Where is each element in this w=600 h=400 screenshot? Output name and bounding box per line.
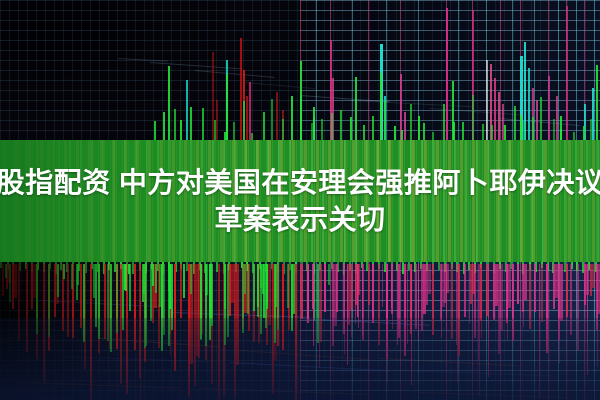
headline-line-2: 草案表示关切 [214, 203, 385, 236]
chart-volume-bar [368, 264, 370, 305]
chart-volume-bar [190, 264, 192, 294]
chart-volume-bar [357, 264, 358, 317]
chart-volume-bar [566, 264, 568, 317]
chart-volume-bar [355, 264, 356, 324]
chart-volume-bar [382, 264, 383, 307]
chart-volume-bar [372, 264, 374, 323]
chart-volume-bar [391, 264, 392, 308]
chart-volume-bar [300, 264, 301, 309]
chart-volume-bar [266, 264, 268, 309]
news-banner-image: 股指配资 中方对美国在安理会强推阿卜耶伊决议 草案表示关切 [0, 0, 600, 400]
chart-bottom-wash [0, 318, 600, 400]
chart-volume-bar [307, 264, 309, 323]
chart-volume-bar [524, 264, 527, 300]
chart-volume-bar [124, 264, 126, 290]
chart-volume-bar [262, 264, 264, 294]
chart-volume-bar [301, 264, 303, 319]
chart-volume-bar [210, 264, 212, 323]
chart-volume-bar [541, 264, 543, 322]
chart-volume-bar [150, 264, 152, 321]
chart-volume-bar [253, 264, 255, 311]
chart-volume-bar [152, 264, 154, 286]
chart-volume-bar [268, 264, 271, 325]
chart-volume-bar [592, 264, 595, 288]
chart-volume-bar [155, 264, 157, 293]
chart-volume-bar [469, 264, 470, 323]
chart-volume-bar [169, 264, 171, 309]
chart-volume-bar [180, 264, 182, 318]
chart-volume-bar [534, 264, 536, 312]
chart-volume-bar [244, 264, 246, 294]
chart-volume-bar [324, 264, 326, 312]
chart-volume-bar [287, 264, 289, 308]
chart-volume-bar [257, 264, 259, 307]
chart-volume-bar [293, 264, 295, 314]
chart-volume-bar [508, 264, 511, 308]
chart-volume-bar [247, 264, 249, 314]
chart-volume-bar [128, 264, 130, 274]
chart-volume-bar [560, 264, 563, 321]
chart-volume-bar [336, 264, 338, 312]
chart-volume-bar [464, 264, 466, 317]
headline-line-1: 股指配资 中方对美国在安理会强推阿卜耶伊决议 [0, 166, 600, 199]
chart-volume-bar [183, 264, 185, 298]
headline-text: 股指配资 中方对美国在安理会强推阿卜耶伊决议 草案表示关切 [0, 140, 600, 262]
chart-volume-bar [517, 264, 519, 304]
chart-volume-bar [206, 264, 208, 295]
chart-volume-bar [328, 264, 330, 285]
chart-volume-bar [428, 264, 431, 294]
